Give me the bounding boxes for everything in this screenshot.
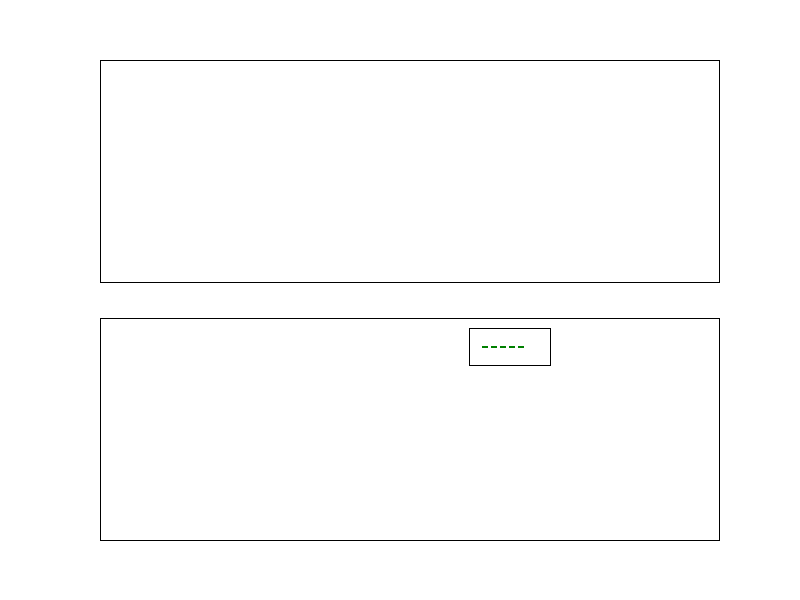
mag-limit-line-swatch-icon: [482, 346, 524, 348]
matplotlib-figure: [0, 0, 800, 600]
top-axes-histogram: [100, 60, 720, 283]
bottom-axes-cumulative: [100, 318, 720, 541]
cumulative-curve-layer: [101, 319, 719, 540]
legend[interactable]: [469, 328, 551, 366]
histogram-bars-layer: [101, 61, 719, 282]
